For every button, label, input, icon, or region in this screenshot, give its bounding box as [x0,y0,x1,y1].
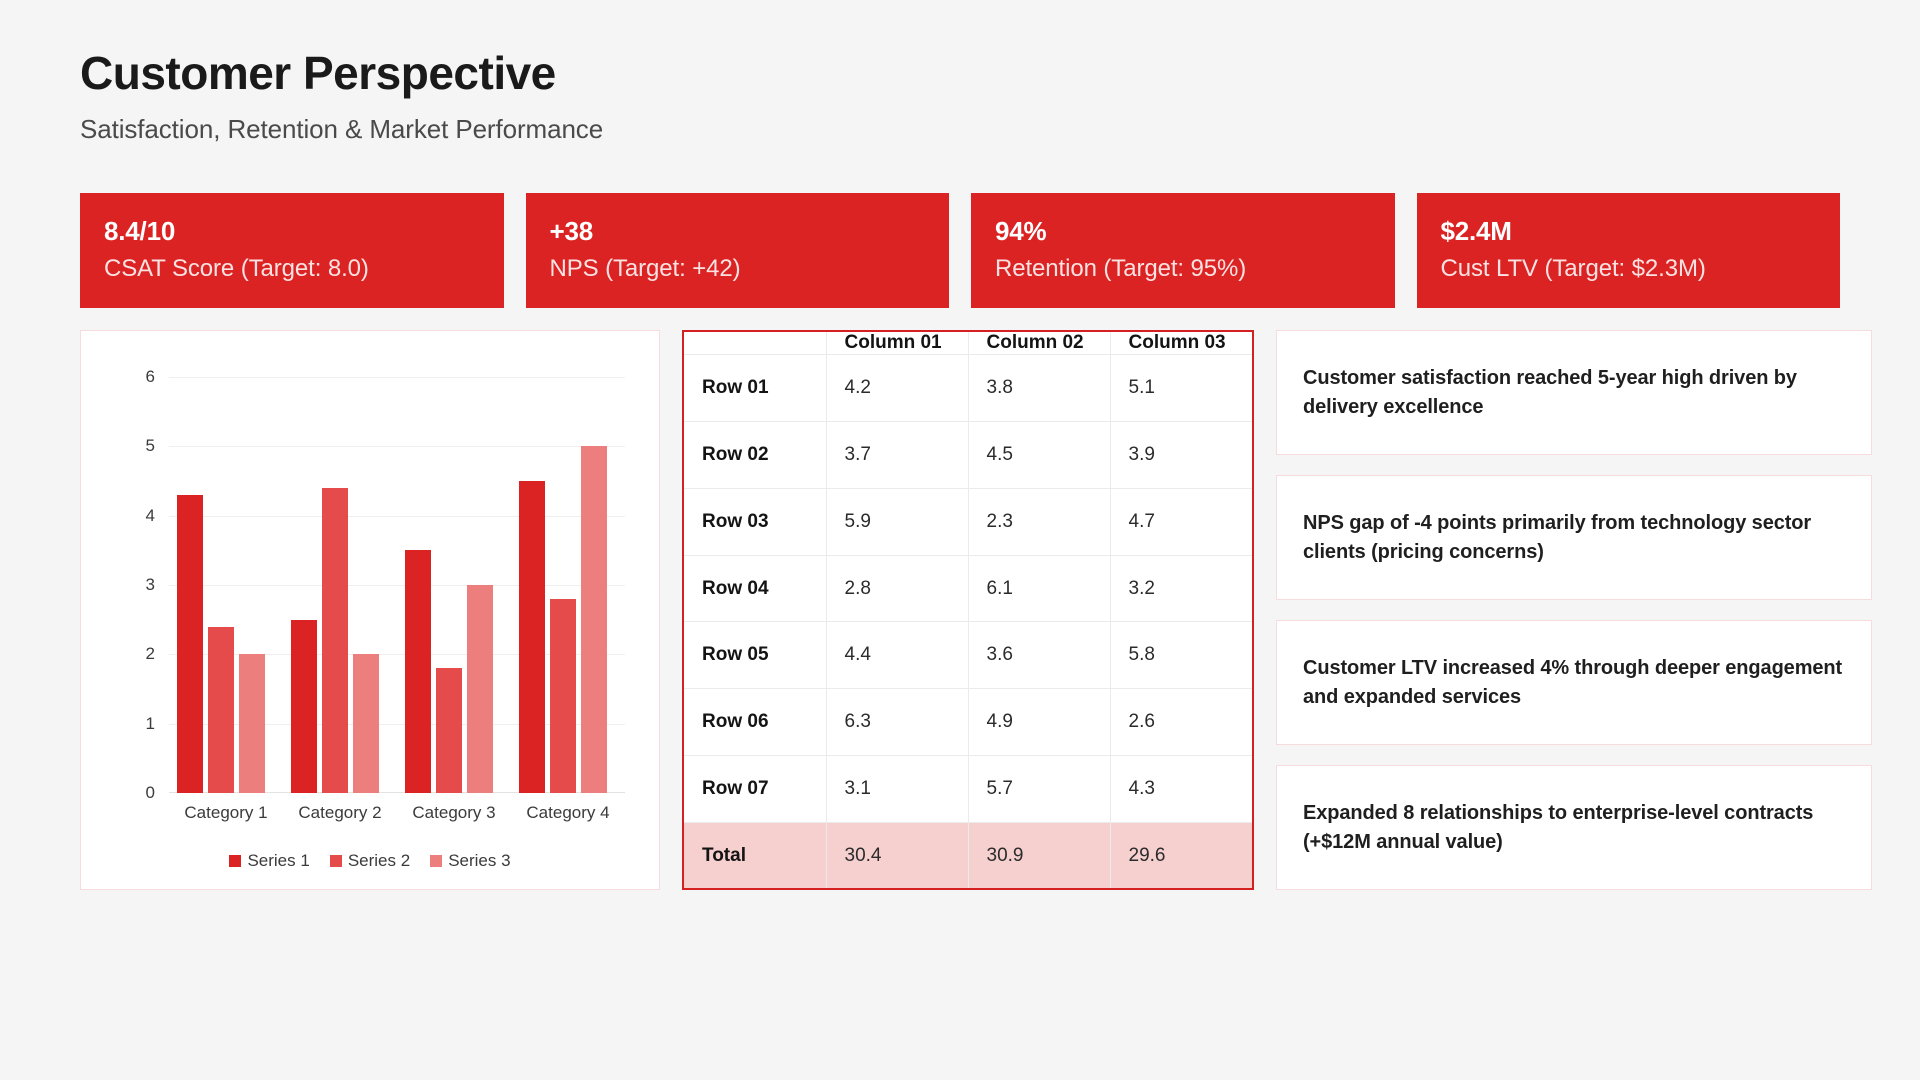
table-total-cell: 30.4 [826,823,968,888]
chart-x-tick-label: Category 3 [397,803,511,823]
table-row[interactable]: Row 014.23.85.1 [684,355,1252,422]
chart-legend-label: Series 1 [247,851,309,871]
kpi-value: 94% [995,215,1371,248]
chart-legend-item[interactable]: Series 1 [229,851,309,871]
legend-swatch-icon [430,855,442,867]
table-column-header[interactable]: Column 01 [826,332,968,355]
insight-card[interactable]: Expanded 8 relationships to enterprise-l… [1276,765,1872,890]
chart-x-tick-label: Category 2 [283,803,397,823]
table-cell: 5.8 [1110,622,1252,689]
chart-bar[interactable] [519,481,545,793]
kpi-value: $2.4M [1441,215,1817,248]
table-cell: 3.9 [1110,421,1252,488]
table-cell: 5.7 [968,756,1110,823]
table-cell: 6.1 [968,555,1110,622]
table-total-cell: 29.6 [1110,823,1252,888]
insight-text: Customer LTV increased 4% through deeper… [1303,654,1845,711]
insight-card[interactable]: Customer satisfaction reached 5-year hig… [1276,330,1872,455]
chart-legend-label: Series 2 [348,851,410,871]
chart-plot-area: 0123456 Category 1Category 2Category 3Ca… [97,349,643,851]
table-cell: 3.1 [826,756,968,823]
chart-y-tick-label: 6 [146,367,155,387]
insight-card[interactable]: Customer LTV increased 4% through deeper… [1276,620,1872,745]
page-subtitle: Satisfaction, Retention & Market Perform… [80,114,1840,145]
chart-bar[interactable] [291,620,317,793]
table-row[interactable]: Row 073.15.74.3 [684,756,1252,823]
bar-chart-panel: 0123456 Category 1Category 2Category 3Ca… [80,330,660,890]
dashboard-page: Customer Perspective Satisfaction, Reten… [0,0,1920,1080]
table-cell: 3.6 [968,622,1110,689]
insight-card[interactable]: NPS gap of -4 points primarily from tech… [1276,475,1872,600]
table-total-label: Total [684,823,826,888]
table-row-label: Row 02 [684,421,826,488]
insight-text: Expanded 8 relationships to enterprise-l… [1303,799,1845,856]
table-row-label: Row 03 [684,488,826,555]
chart-bar[interactable] [436,668,462,793]
table-cell: 4.9 [968,689,1110,756]
chart-bar[interactable] [550,599,576,793]
table-row[interactable]: Row 035.92.34.7 [684,488,1252,555]
dashboard-body: 0123456 Category 1Category 2Category 3Ca… [80,330,1840,890]
chart-y-tick-label: 1 [146,714,155,734]
chart-y-tick-label: 0 [146,783,155,803]
chart-bar-group [511,377,625,793]
table-row[interactable]: Row 042.86.13.2 [684,555,1252,622]
chart-y-tick-label: 3 [146,575,155,595]
table-row[interactable]: Row 023.74.53.9 [684,421,1252,488]
chart-y-tick-label: 4 [146,506,155,526]
table-cell: 5.9 [826,488,968,555]
table-cell: 4.5 [968,421,1110,488]
table-head: Column 01Column 02Column 03 [684,332,1252,355]
kpi-label: NPS (Target: +42) [550,254,926,284]
table-cell: 3.2 [1110,555,1252,622]
data-table: Column 01Column 02Column 03 Row 014.23.8… [684,332,1252,888]
chart-bar-group [283,377,397,793]
table-cell: 5.1 [1110,355,1252,422]
kpi-label: CSAT Score (Target: 8.0) [104,254,480,284]
table-header-row: Column 01Column 02Column 03 [684,332,1252,355]
chart-legend-label: Series 3 [448,851,510,871]
chart-bar[interactable] [353,654,379,793]
kpi-card[interactable]: $2.4MCust LTV (Target: $2.3M) [1417,193,1841,309]
chart-bar-groups [169,377,625,793]
chart-bar[interactable] [467,585,493,793]
chart-bar-group [169,377,283,793]
table-cell: 2.8 [826,555,968,622]
table-column-header[interactable]: Column 03 [1110,332,1252,355]
kpi-card[interactable]: +38NPS (Target: +42) [526,193,950,309]
page-title: Customer Perspective [80,48,1840,100]
table-cell: 4.4 [826,622,968,689]
chart-bar[interactable] [177,495,203,793]
chart-bar-group [397,377,511,793]
table-cell: 4.2 [826,355,968,422]
chart-x-tick-label: Category 4 [511,803,625,823]
chart-x-tick-label: Category 1 [169,803,283,823]
table-row-label: Row 07 [684,756,826,823]
chart-x-axis-labels: Category 1Category 2Category 3Category 4 [169,803,625,823]
kpi-card[interactable]: 8.4/10CSAT Score (Target: 8.0) [80,193,504,309]
table-total-cell: 30.9 [968,823,1110,888]
table-row-label: Row 04 [684,555,826,622]
table-row-label: Row 01 [684,355,826,422]
chart-bar[interactable] [322,488,348,793]
kpi-value: +38 [550,215,926,248]
kpi-card[interactable]: 94%Retention (Target: 95%) [971,193,1395,309]
legend-swatch-icon [229,855,241,867]
table-row[interactable]: Row 066.34.92.6 [684,689,1252,756]
insight-text: Customer satisfaction reached 5-year hig… [1303,364,1845,421]
table-row[interactable]: Row 054.43.65.8 [684,622,1252,689]
chart-legend: Series 1Series 2Series 3 [97,851,643,879]
table-cell: 4.3 [1110,756,1252,823]
insight-text: NPS gap of -4 points primarily from tech… [1303,509,1845,566]
chart-bar[interactable] [208,627,234,793]
insights-column: Customer satisfaction reached 5-year hig… [1276,330,1872,890]
table-cell: 3.8 [968,355,1110,422]
table-column-header[interactable] [684,332,826,355]
chart-bar[interactable] [405,550,431,793]
table-row-label: Row 05 [684,622,826,689]
chart-bar[interactable] [239,654,265,793]
chart-y-tick-label: 5 [146,436,155,456]
kpi-label: Cust LTV (Target: $2.3M) [1441,254,1817,284]
table-cell: 2.6 [1110,689,1252,756]
chart-y-tick-label: 2 [146,644,155,664]
legend-swatch-icon [330,855,342,867]
chart-legend-item[interactable]: Series 3 [430,851,510,871]
chart-legend-item[interactable]: Series 2 [330,851,410,871]
chart-plot: 0123456 [169,377,625,793]
table-cell: 6.3 [826,689,968,756]
data-table-panel[interactable]: Column 01Column 02Column 03 Row 014.23.8… [682,330,1254,890]
kpi-row: 8.4/10CSAT Score (Target: 8.0)+38NPS (Ta… [80,193,1840,309]
kpi-value: 8.4/10 [104,215,480,248]
table-cell: 3.7 [826,421,968,488]
table-cell: 2.3 [968,488,1110,555]
table-body: Row 014.23.85.1Row 023.74.53.9Row 035.92… [684,355,1252,889]
table-column-header[interactable]: Column 02 [968,332,1110,355]
table-cell: 4.7 [1110,488,1252,555]
kpi-label: Retention (Target: 95%) [995,254,1371,284]
table-total-row: Total30.430.929.6 [684,823,1252,888]
table-row-label: Row 06 [684,689,826,756]
chart-bar[interactable] [581,446,607,793]
